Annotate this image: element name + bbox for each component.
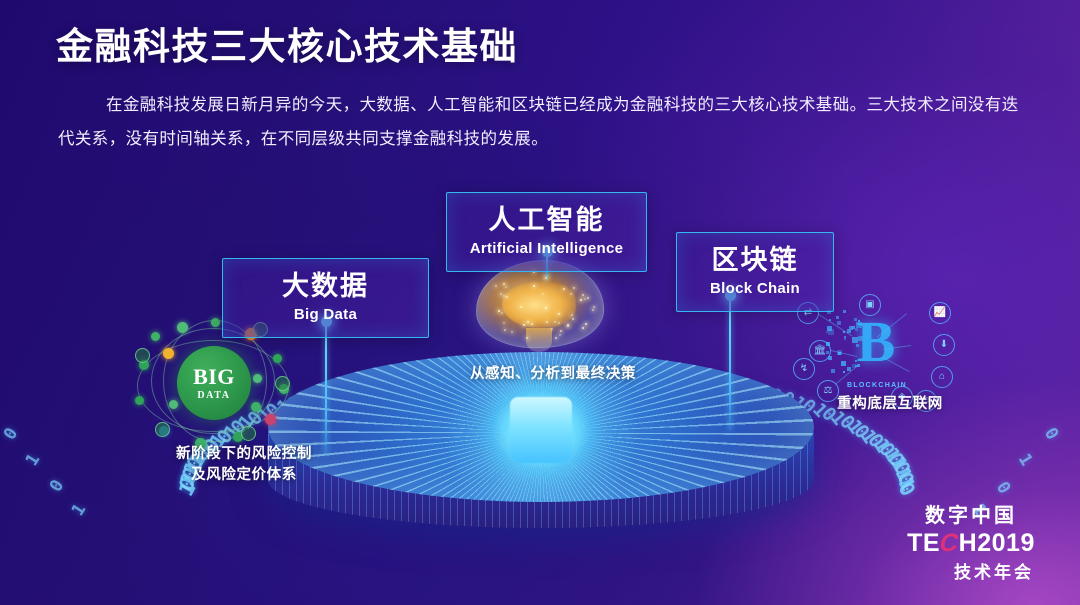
blockchain-node-icon: ↯ bbox=[793, 358, 815, 380]
big-data-node-icon bbox=[135, 396, 144, 405]
binary-digit: 1 bbox=[856, 425, 882, 448]
card-ai-title-cn: 人工智能 bbox=[469, 205, 624, 236]
logo-tech-post: H2019 bbox=[959, 529, 1035, 557]
big-data-node-icon bbox=[169, 400, 178, 409]
binary-digit: 1 bbox=[842, 416, 866, 438]
blockchain-pixel bbox=[837, 321, 841, 325]
brain-neuron-spark bbox=[533, 285, 535, 287]
blockchain-pixel bbox=[843, 371, 845, 373]
caption-big-data: 新阶段下的风险控制 及风险定价体系 bbox=[104, 444, 384, 486]
card-artificial-intelligence[interactable]: 人工智能 Artificial Intelligence bbox=[446, 192, 647, 272]
brain-neuron-spark bbox=[503, 283, 505, 285]
logo-tech-pre: TE bbox=[907, 529, 940, 557]
connector-line-big-data bbox=[325, 322, 327, 454]
binary-digit: 0 bbox=[894, 478, 921, 500]
card-block-chain[interactable]: 区块链 Block Chain bbox=[676, 232, 834, 312]
brain-neuron-spark bbox=[500, 293, 502, 295]
big-data-node-icon bbox=[151, 332, 160, 341]
brain-stem bbox=[526, 328, 552, 352]
disc-core-beam bbox=[510, 397, 572, 463]
brain-neuron-spark bbox=[573, 287, 575, 289]
big-data-node-icon bbox=[273, 354, 282, 363]
blockchain-pixel bbox=[828, 329, 834, 335]
big-data-node-icon bbox=[265, 414, 276, 425]
card-big-data-title-cn: 大数据 bbox=[245, 271, 406, 302]
big-data-node-icon bbox=[163, 348, 174, 359]
binary-digit: 0 bbox=[46, 476, 68, 495]
connector-line-blockchain bbox=[729, 296, 731, 430]
brain-neuron-spark bbox=[585, 323, 587, 325]
logo-line-3: 技术年会 bbox=[896, 558, 1046, 583]
brain-neuron-spark bbox=[531, 323, 533, 325]
brain-neuron-spark bbox=[526, 337, 528, 339]
big-data-node-icon bbox=[251, 402, 261, 412]
binary-digit: 0 bbox=[892, 468, 919, 490]
blockchain-pixel bbox=[831, 369, 835, 373]
binary-digit: 0 bbox=[0, 424, 22, 443]
card-big-data-title-en: Big Data bbox=[245, 306, 406, 323]
event-logo: 数字中国 TECH2019 技术年会 bbox=[896, 499, 1046, 583]
blockchain-pixel bbox=[836, 316, 839, 319]
binary-digit: 0 bbox=[1040, 424, 1062, 443]
big-data-badge-icon bbox=[275, 376, 290, 391]
logo-line-1: 数字中国 bbox=[896, 499, 1046, 528]
brain-neuron-spark bbox=[592, 309, 594, 311]
brain-neuron-spark bbox=[558, 313, 560, 315]
binary-digit: 0 bbox=[874, 439, 900, 461]
blockchain-pixel bbox=[858, 336, 863, 341]
big-data-badge-icon bbox=[241, 426, 256, 441]
brain-neuron-spark bbox=[572, 318, 574, 320]
brain-neuron-spark bbox=[503, 322, 505, 324]
binary-digit: 0 bbox=[863, 429, 889, 451]
big-data-node-icon bbox=[211, 318, 220, 327]
card-big-data[interactable]: 大数据 Big Data bbox=[222, 258, 429, 338]
brain-neuron-spark bbox=[560, 330, 562, 332]
blockchain-pixel bbox=[855, 360, 857, 362]
blockchain-pixel bbox=[854, 318, 857, 321]
brain-neuron-spark bbox=[495, 285, 497, 287]
brain-neuron-spark bbox=[504, 329, 506, 331]
card-blockchain-title-en: Block Chain bbox=[699, 280, 811, 297]
binary-digit: 1 bbox=[893, 473, 920, 495]
big-data-node-icon bbox=[177, 322, 188, 333]
binary-digit: 1 bbox=[879, 443, 905, 465]
page-title: 金融科技三大核心技术基础 bbox=[56, 16, 518, 70]
slide-canvas: 金融科技三大核心技术基础 在金融科技发展日新月异的今天，大数据、人工智能和区块链… bbox=[0, 0, 1080, 605]
blockchain-pixel bbox=[856, 344, 859, 347]
blockchain-node-icon: 🏛 bbox=[809, 340, 831, 362]
binary-digit: 0 bbox=[889, 458, 915, 480]
caption-ai: 从感知、分析到最终决策 bbox=[428, 364, 678, 385]
card-ai-title-en: Artificial Intelligence bbox=[469, 240, 624, 257]
binary-digit: 1 bbox=[886, 453, 912, 475]
big-data-badge-icon bbox=[155, 422, 170, 437]
binary-digit: 0 bbox=[850, 420, 875, 443]
brain-neuron-spark bbox=[501, 312, 503, 314]
logo-tech-2019: TECH2019 bbox=[896, 531, 1046, 556]
blockchain-pixel bbox=[843, 310, 846, 313]
brain-neuron-spark bbox=[559, 334, 561, 336]
binary-digit: 1 bbox=[68, 500, 90, 519]
body-paragraph: 在金融科技发展日新月异的今天，大数据、人工智能和区块链已经成为金融科技的三大核心… bbox=[58, 88, 1022, 156]
brain-neuron-spark bbox=[554, 321, 556, 323]
brain-neuron-spark bbox=[555, 337, 557, 339]
brain-neuron-spark bbox=[587, 297, 589, 299]
blockchain-pixel bbox=[841, 361, 846, 366]
blockchain-node-icon: 📈 bbox=[929, 302, 951, 324]
caption-blockchain: 重构底层互联网 bbox=[800, 394, 980, 415]
blockchain-node-icon: ⌂ bbox=[931, 366, 953, 388]
binary-digit: 0 bbox=[883, 448, 909, 470]
big-data-badge-icon bbox=[135, 348, 150, 363]
binary-digit: 1 bbox=[869, 434, 895, 456]
blockchain-node-icon: ▣ bbox=[859, 294, 881, 316]
card-blockchain-title-cn: 区块链 bbox=[699, 245, 811, 276]
binary-digit: 1 bbox=[1014, 450, 1036, 469]
binary-digit: 1 bbox=[891, 463, 918, 485]
blockchain-pixel bbox=[844, 338, 846, 340]
brain-neuron-spark bbox=[545, 307, 547, 309]
binary-digit: 1 bbox=[22, 450, 44, 469]
brain-neuron-spark bbox=[520, 306, 522, 308]
blockchain-node-icon: ⬇ bbox=[933, 334, 955, 356]
big-data-node-icon bbox=[253, 374, 262, 383]
binary-digit: 0 bbox=[992, 478, 1014, 497]
blockchain-pixel bbox=[855, 328, 858, 331]
